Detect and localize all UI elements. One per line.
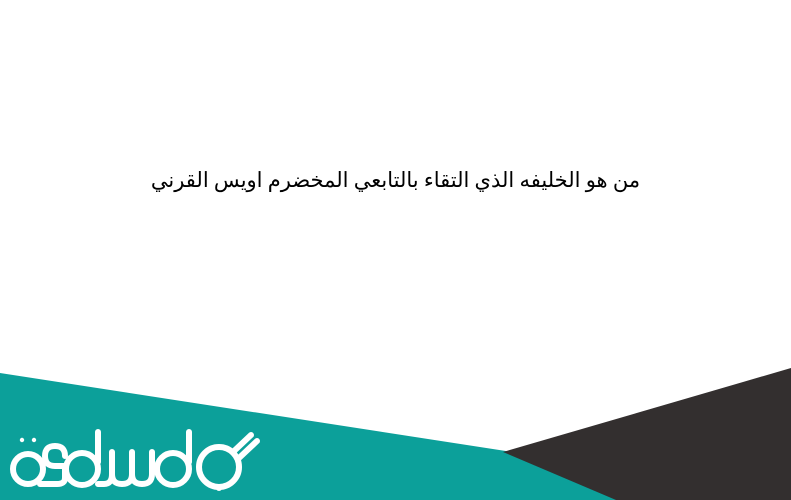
ta-marbuta-dot-2 — [32, 438, 36, 442]
seen-letter — [98, 452, 152, 484]
brand-logo-mark — [10, 422, 262, 494]
page-title: من هو الخليفه الذي التقاء بالتابعي المخض… — [151, 164, 640, 197]
headline-container: من هو الخليفه الذي التقاء بالتابعي المخض… — [0, 0, 791, 360]
waw-bowl — [157, 453, 189, 485]
charcoal-diagonal-wedge — [503, 368, 791, 500]
ta-marbuta-dot-1 — [20, 438, 24, 442]
brand-logo[interactable] — [10, 422, 262, 494]
waw-bowl-2 — [66, 453, 98, 485]
article-card: من هو الخليفه الذي التقاء بالتابعي المخض… — [0, 0, 791, 500]
ta-marbuta-bowl — [13, 454, 43, 484]
